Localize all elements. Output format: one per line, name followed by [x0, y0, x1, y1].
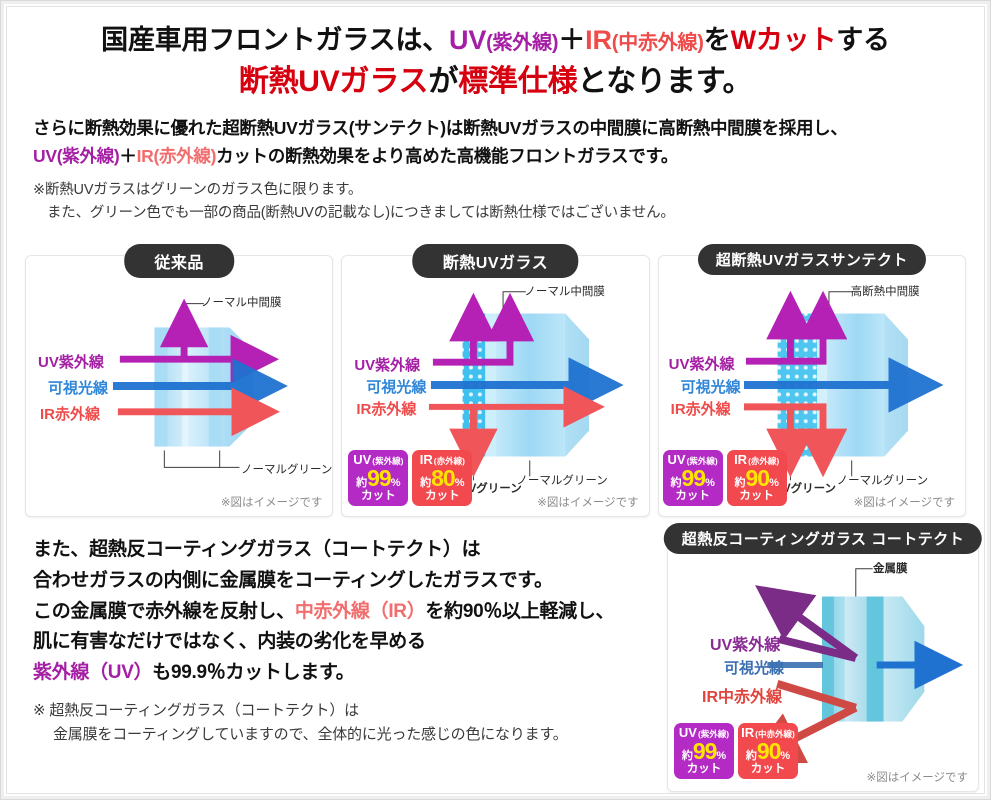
intro-paragraph-line-2-run-3: カットの断熱効果をより高めた高機能フロントガラスです。	[216, 146, 678, 166]
intro-paragraph-line-2-run-2: IR(赤外線)	[137, 146, 217, 166]
badge-uv-cut: カット	[663, 491, 723, 503]
ray-label-visible: 可視光線	[681, 376, 741, 397]
ray-label-uv: UV紫外線	[354, 354, 420, 375]
coatect-description-line-3-run-0: この金属膜で赤外線を反射し、	[33, 601, 295, 622]
callout-label-normal-green: ノーマルグリーン	[516, 472, 607, 488]
badge-ir: IR(中赤外線) 約90% カット	[738, 723, 798, 780]
badge-ir-percent: %	[769, 478, 779, 489]
ray-label-ir: IR赤外線	[356, 398, 416, 419]
ray-label-visible: 可視光線	[366, 376, 426, 397]
callout-label-normal-green: ノーマルグリーン	[241, 461, 332, 477]
badge-uv-paren: (紫外線)	[698, 730, 729, 739]
image-disclaimer: ※図はイメージです	[867, 769, 968, 785]
callout-top-line	[829, 292, 853, 310]
badge-ir-approx: 約	[734, 478, 745, 489]
badge-uv-label: UV	[668, 453, 686, 466]
badge-ir-label: IR	[420, 453, 433, 466]
headline-1-run-6: を	[704, 25, 731, 55]
badge-ir-value: 90	[757, 740, 781, 763]
coatect-description-line-3-run-1: 中赤外線（IR）	[295, 601, 426, 622]
badge-uv-approx: 約	[682, 751, 693, 762]
badge-ir: IR(赤外線) 約90% カット	[727, 450, 787, 507]
badge-group-uvcut: UV(紫外線) 約99% カット IR(赤外線) 約80% カット	[348, 450, 472, 507]
coatect-note-line-1: ※ 超熱反コーティングガラス（コートテクト）は	[33, 702, 359, 719]
badge-uv-value: 99	[367, 467, 391, 490]
badge-uv-percent: %	[705, 478, 715, 489]
disclaimer-note-line-2: また、グリーン色でも一部の商品(断熱UVの記載なし)につきましては断熱仕様ではご…	[33, 202, 962, 225]
badge-uv-value: 99	[693, 740, 717, 763]
coatect-description-line-5-run-0: 紫外線（UV）	[33, 662, 152, 683]
badge-ir-paren: (赤外線)	[748, 457, 779, 466]
badge-uv-value: 99	[681, 467, 705, 490]
ray-label-visible: 可視光線	[724, 657, 784, 678]
badge-ir-cut: カット	[727, 491, 787, 503]
badge-uv: UV(紫外線) 約99% カット	[663, 450, 723, 507]
ray-label-ir: IR赤外線	[40, 403, 100, 424]
coatect-description-body: また、超熱反コーティングガラス（コートテクト）は合わせガラスの内側に金属膜をコー…	[33, 535, 657, 689]
badge-uv-percent: %	[716, 751, 726, 762]
headline-1-run-8: する	[836, 25, 890, 55]
badge-ir: IR(赤外線) 約80% カット	[412, 450, 472, 507]
infographic-page: 国産車用フロントガラスは、UV(紫外線)＋IR(中赤外線)をWカットする 断熱U…	[0, 0, 991, 800]
headline-1-run-0: 国産車用フロントガラスは、	[101, 25, 449, 55]
comparison-panels: 従来品	[7, 255, 984, 517]
headline-1-run-1: UV	[449, 25, 486, 55]
headline-1-run-4: IR	[585, 25, 612, 55]
callout-label-metal-film: 金属膜	[873, 560, 908, 576]
panel-conventional: 従来品	[25, 255, 333, 517]
headline-1-run-7: Wカット	[731, 25, 837, 55]
badge-ir-value: 90	[745, 467, 769, 490]
badge-uv-percent: %	[391, 478, 401, 489]
callout-label-normal-interlayer: ノーマル中間膜	[524, 283, 605, 299]
intro-paragraph-line-2-run-1: ＋	[119, 146, 136, 166]
callout-label-normal-green: ノーマルグリーン	[837, 472, 928, 488]
headline-1-run-2: (紫外線)	[486, 32, 558, 54]
headline-2-run-2: 標準仕様	[458, 65, 577, 98]
headline-2-run-3: となります。	[577, 65, 752, 98]
coatect-description-line-2: 合わせガラスの内側に金属膜をコーティングしたガラスです。	[33, 566, 657, 597]
callout-label-high-insulation-interlayer: 高断熱中間膜	[851, 283, 920, 299]
badge-ir-cut: カット	[738, 764, 798, 776]
ray-label-visible: 可視光線	[48, 377, 108, 398]
badge-uv-cut: カット	[348, 491, 408, 503]
page-title: 国産車用フロントガラスは、UV(紫外線)＋IR(中赤外線)をWカットする 断熱U…	[7, 7, 984, 108]
coatect-note-line-2: 金属膜をコーティングしていますので、全体的に光った感じの色になります。	[33, 723, 657, 747]
badge-ir-paren: (赤外線)	[434, 457, 465, 466]
intro-paragraph-line-1: さらに断熱効果に優れた超断熱UVガラス(サンテクト)は断熱UVガラスの中間膜に高…	[33, 114, 962, 142]
ray-label-uv: UV紫外線	[38, 351, 104, 372]
coatect-description-line-3: この金属膜で赤外線を反射し、中赤外線（IR）を約90％以上軽減し、	[33, 597, 657, 628]
panel-suntect: 超断熱UVガラスサンテクト	[658, 255, 966, 517]
intro-paragraph-line-2: UV(紫外線)＋IR(赤外線)カットの断熱効果をより高めた高機能フロントガラスで…	[33, 142, 962, 170]
coatect-description-line-4: 肌に有害なだけではなく、内装の劣化を早める	[33, 627, 657, 658]
badge-uv: UV(紫外線) 約99% カット	[674, 723, 734, 780]
coatect-description-line-5: 紫外線（UV）も99.9％カットします。	[33, 658, 657, 689]
badge-uv-label: UV	[353, 453, 371, 466]
coatect-description-line-5-run-1: も99.9％カットします。	[152, 662, 354, 683]
badge-ir-paren: (中赤外線)	[755, 730, 795, 739]
ray-label-ir: IR赤外線	[671, 398, 731, 419]
headline-1-run-3: ＋	[558, 25, 585, 55]
headline-1-run-5: (中赤外線)	[612, 32, 704, 54]
intro-paragraph: さらに断熱効果に優れた超断熱UVガラス(サンテクト)は断熱UVガラスの中間膜に高…	[7, 108, 984, 171]
badge-uv-label: UV	[679, 726, 697, 739]
coatect-note: ※ 超熱反コーティングガラス（コートテクト）は 金属膜をコーティングしていますの…	[33, 699, 657, 747]
ray-label-uv: UV紫外線	[710, 631, 780, 655]
badge-ir-percent: %	[780, 751, 790, 762]
badge-group-suntect: UV(紫外線) 約99% カット IR(赤外線) 約90% カット	[663, 450, 787, 507]
badge-ir-approx: 約	[746, 751, 757, 762]
coatect-description-line-4-run-0: 肌に有害なだけではなく、内装の劣化を早める	[33, 631, 426, 652]
badge-ir-percent: %	[455, 478, 465, 489]
coatect-description-line-1-run-0: また、超熱反コーティングガラス（コートテクト）は	[33, 539, 480, 560]
coatect-description: また、超熱反コーティングガラス（コートテクト）は合わせガラスの内側に金属膜をコー…	[7, 535, 657, 747]
ray-label-ir-mid: IR中赤外線	[702, 683, 782, 707]
badge-ir-value: 80	[431, 467, 455, 490]
callout-bottom-line	[164, 451, 239, 468]
badge-ir-label: IR	[734, 453, 747, 466]
callout-top-line	[856, 569, 873, 597]
badge-uv-approx: 約	[356, 478, 367, 489]
badge-uv-paren: (紫外線)	[687, 457, 718, 466]
coatect-description-line-3-run-2: を約90％以上軽減し、	[425, 601, 614, 622]
headline-line-1: 国産車用フロントガラスは、UV(紫外線)＋IR(中赤外線)をWカットする	[17, 21, 974, 59]
disclaimer-note-line-1: ※断熱UVガラスはグリーンのガラス色に限ります。	[33, 182, 362, 198]
disclaimer-note: ※断熱UVガラスはグリーンのガラス色に限ります。 また、グリーン色でも一部の商品…	[7, 171, 984, 225]
image-disclaimer: ※図はイメージです	[854, 494, 955, 510]
headline-2-run-0: 断熱UVガラス	[239, 65, 429, 98]
coatect-description-line-1: また、超熱反コーティングガラス（コートテクト）は	[33, 535, 657, 566]
badge-ir-label: IR	[741, 726, 754, 739]
image-disclaimer: ※図はイメージです	[537, 494, 638, 510]
page-inner-frame: 国産車用フロントガラスは、UV(紫外線)＋IR(中赤外線)をWカットする 断熱U…	[6, 6, 985, 794]
callout-top-line	[503, 292, 526, 310]
badge-uv-cut: カット	[674, 764, 734, 776]
callout-label-normal-interlayer: ノーマル中間膜	[201, 294, 282, 310]
badge-ir-cut: カット	[412, 491, 472, 503]
intro-paragraph-line-2-run-0: UV(紫外線)	[33, 146, 119, 166]
badge-uv: UV(紫外線) 約99% カット	[348, 450, 408, 507]
badge-group-coatect: UV(紫外線) 約99% カット IR(中赤外線) 約90% カット	[674, 723, 798, 780]
badge-uv-approx: 約	[670, 478, 681, 489]
ray-label-uv: UV紫外線	[669, 353, 735, 374]
coatect-description-line-2-run-0: 合わせガラスの内側に金属膜をコーティングしたガラスです。	[33, 570, 553, 591]
image-disclaimer: ※図はイメージです	[221, 494, 322, 510]
headline-2-run-1: が	[428, 65, 458, 98]
badge-ir-approx: 約	[420, 478, 431, 489]
badge-uv-paren: (紫外線)	[372, 457, 403, 466]
headline-line-2: 断熱UVガラスが標準仕様となります。	[17, 61, 974, 104]
panel-uvcut: 断熱UVガラス	[341, 255, 649, 517]
panel-coatect: 超熱反コーティングガラス コートテクト	[667, 534, 979, 792]
